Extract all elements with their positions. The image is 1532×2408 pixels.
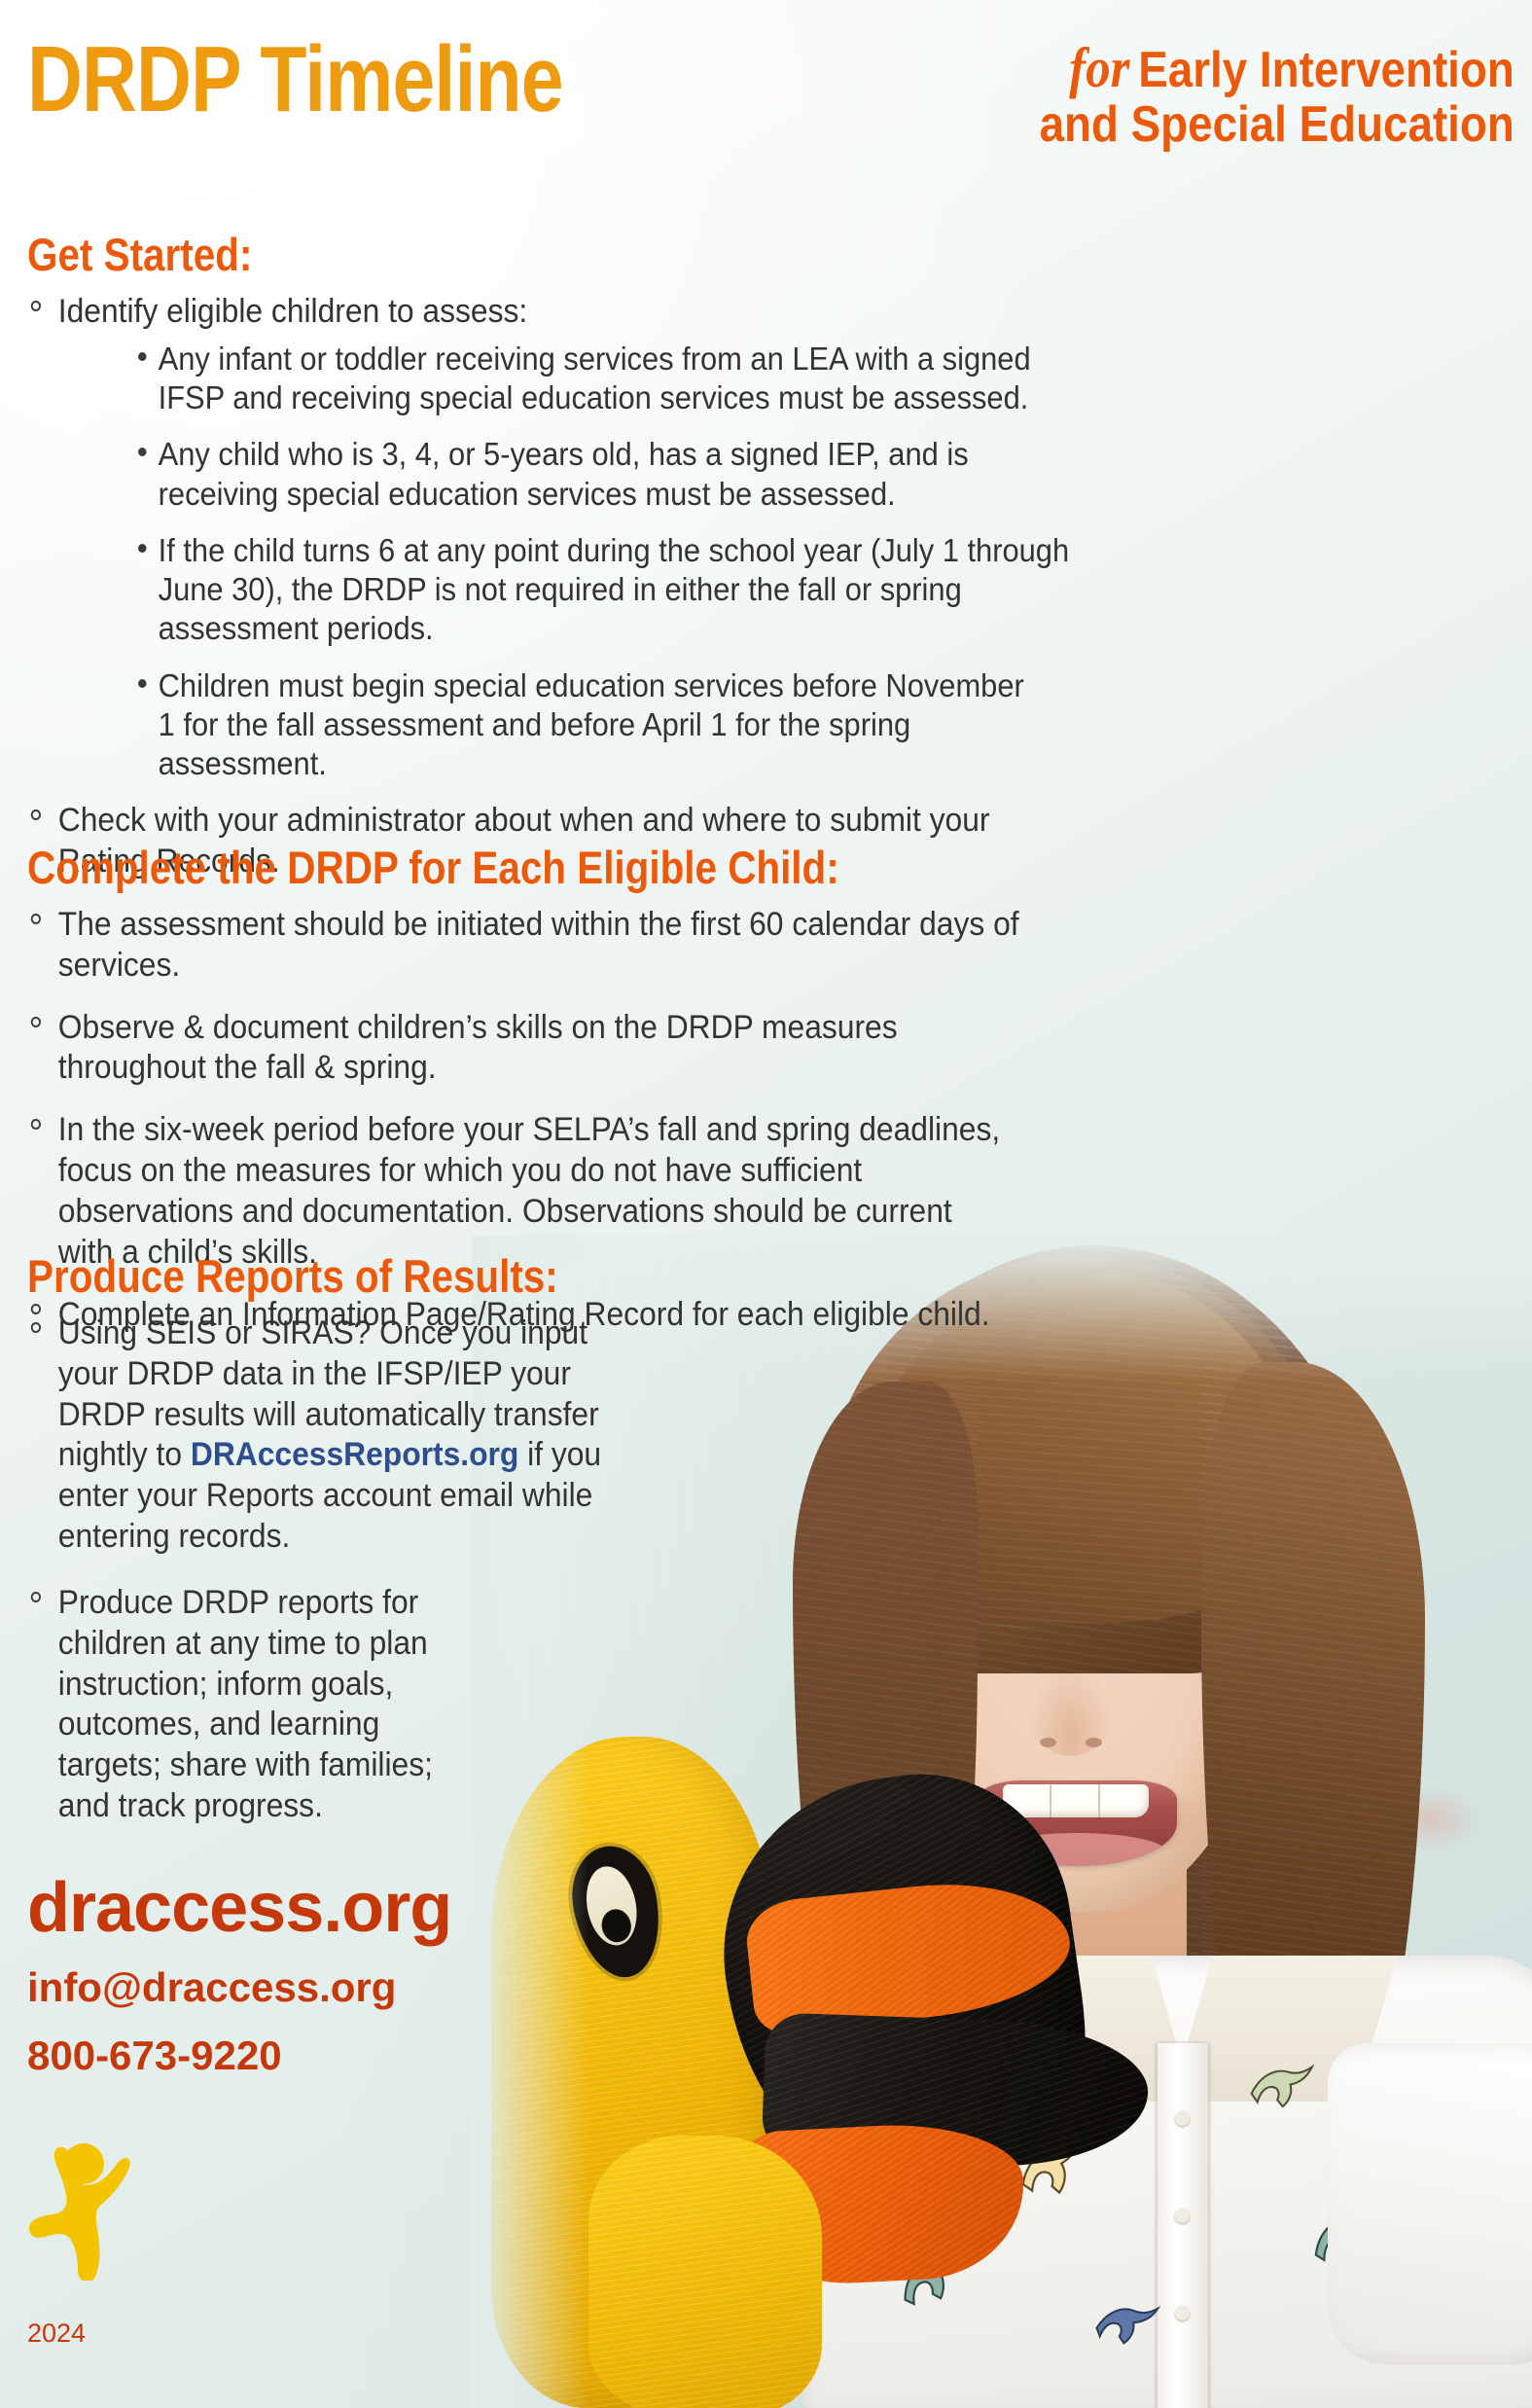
jumping-child-logo [27, 2135, 451, 2285]
title-line2: and Special Education [1040, 98, 1514, 152]
sublist: Any infant or toddler receiving services… [58, 340, 1446, 784]
list-item: The assessment should be initiated withi… [27, 905, 1022, 987]
section-list-produce-reports: Using SEIS or SIRAS? Once you input your… [27, 1313, 708, 1834]
title-line1: Early Intervention [1138, 42, 1514, 98]
dot-bullet-icon [138, 679, 146, 688]
section-heading-complete-drdp: Complete the DRDP for Each Eligible Chil… [27, 845, 839, 890]
sublist-item-text: Any infant or toddler receiving services… [159, 341, 1031, 415]
dot-bullet-icon [138, 352, 146, 361]
list-item: Observe & document children’s skills on … [27, 1008, 1022, 1090]
list-item-text: In the six-week period before your SELPA… [58, 1111, 1000, 1270]
list-item-text: Observe & document children’s skills on … [58, 1009, 898, 1087]
draccessreports-link[interactable]: DRAccessReports.org [191, 1436, 518, 1473]
sublist-item: Children must begin special education se… [134, 666, 1031, 784]
website-text[interactable]: draccess.org [27, 1873, 451, 1943]
year-label: 2024 [27, 2318, 451, 2349]
section-heading-produce-reports: Produce Reports of Results: [27, 1253, 558, 1299]
hollow-bullet-icon [31, 1592, 41, 1602]
list-item-text: Produce DRDP reports for children at any… [58, 1584, 433, 1824]
hollow-bullet-icon [31, 1322, 41, 1333]
list-item: Identify eligible children to assess: An… [27, 292, 1446, 783]
sublist-item: If the child turns 6 at any point during… [134, 531, 1094, 649]
title-subtitle: forEarly Intervention and Special Educat… [975, 39, 1514, 151]
list-item: In the six-week period before your SELPA… [27, 1110, 1004, 1273]
poster-title: DRDP Timeline forEarly Intervention and … [27, 21, 1514, 177]
sublist-item: Any child who is 3, 4, or 5-years old, h… [134, 435, 1067, 514]
hollow-bullet-icon [31, 1119, 41, 1130]
section-heading-get-started: Get Started: [27, 232, 252, 277]
title-main: DRDP Timeline [27, 33, 563, 126]
title-for-word: for [1069, 39, 1138, 98]
hollow-bullet-icon [31, 1017, 41, 1027]
list-item-text: The assessment should be initiated withi… [58, 906, 1019, 984]
drdp-timeline-poster: DRDP Timeline forEarly Intervention and … [0, 0, 1532, 2408]
sublist-item-text: Children must begin special education se… [159, 667, 1024, 782]
dot-bullet-icon [138, 448, 146, 456]
sublist-item-text: Any child who is 3, 4, or 5-years old, h… [159, 436, 969, 511]
sublist-item-text: If the child turns 6 at any point during… [159, 532, 1069, 647]
poster-content: DRDP Timeline forEarly Intervention and … [0, 0, 1532, 2408]
list-item: Using SEIS or SIRAS? Once you input your… [27, 1313, 650, 1558]
hollow-bullet-icon [31, 1304, 41, 1314]
list-item-text: Identify eligible children to assess: [58, 293, 527, 330]
poster-footer: draccess.org info@draccess.org 800-673-9… [27, 1873, 451, 2349]
phone-text[interactable]: 800-673-9220 [27, 2032, 451, 2079]
dot-bullet-icon [138, 544, 146, 553]
hollow-bullet-icon [31, 809, 41, 820]
sublist-item: Any infant or toddler receiving services… [134, 340, 1067, 418]
hollow-bullet-icon [31, 301, 41, 311]
section-list-get-started: Identify eligible children to assess: An… [27, 292, 1532, 889]
email-text[interactable]: info@draccess.org [27, 1964, 451, 2011]
hollow-bullet-icon [31, 914, 41, 924]
list-item: Produce DRDP reports for children at any… [27, 1583, 458, 1827]
